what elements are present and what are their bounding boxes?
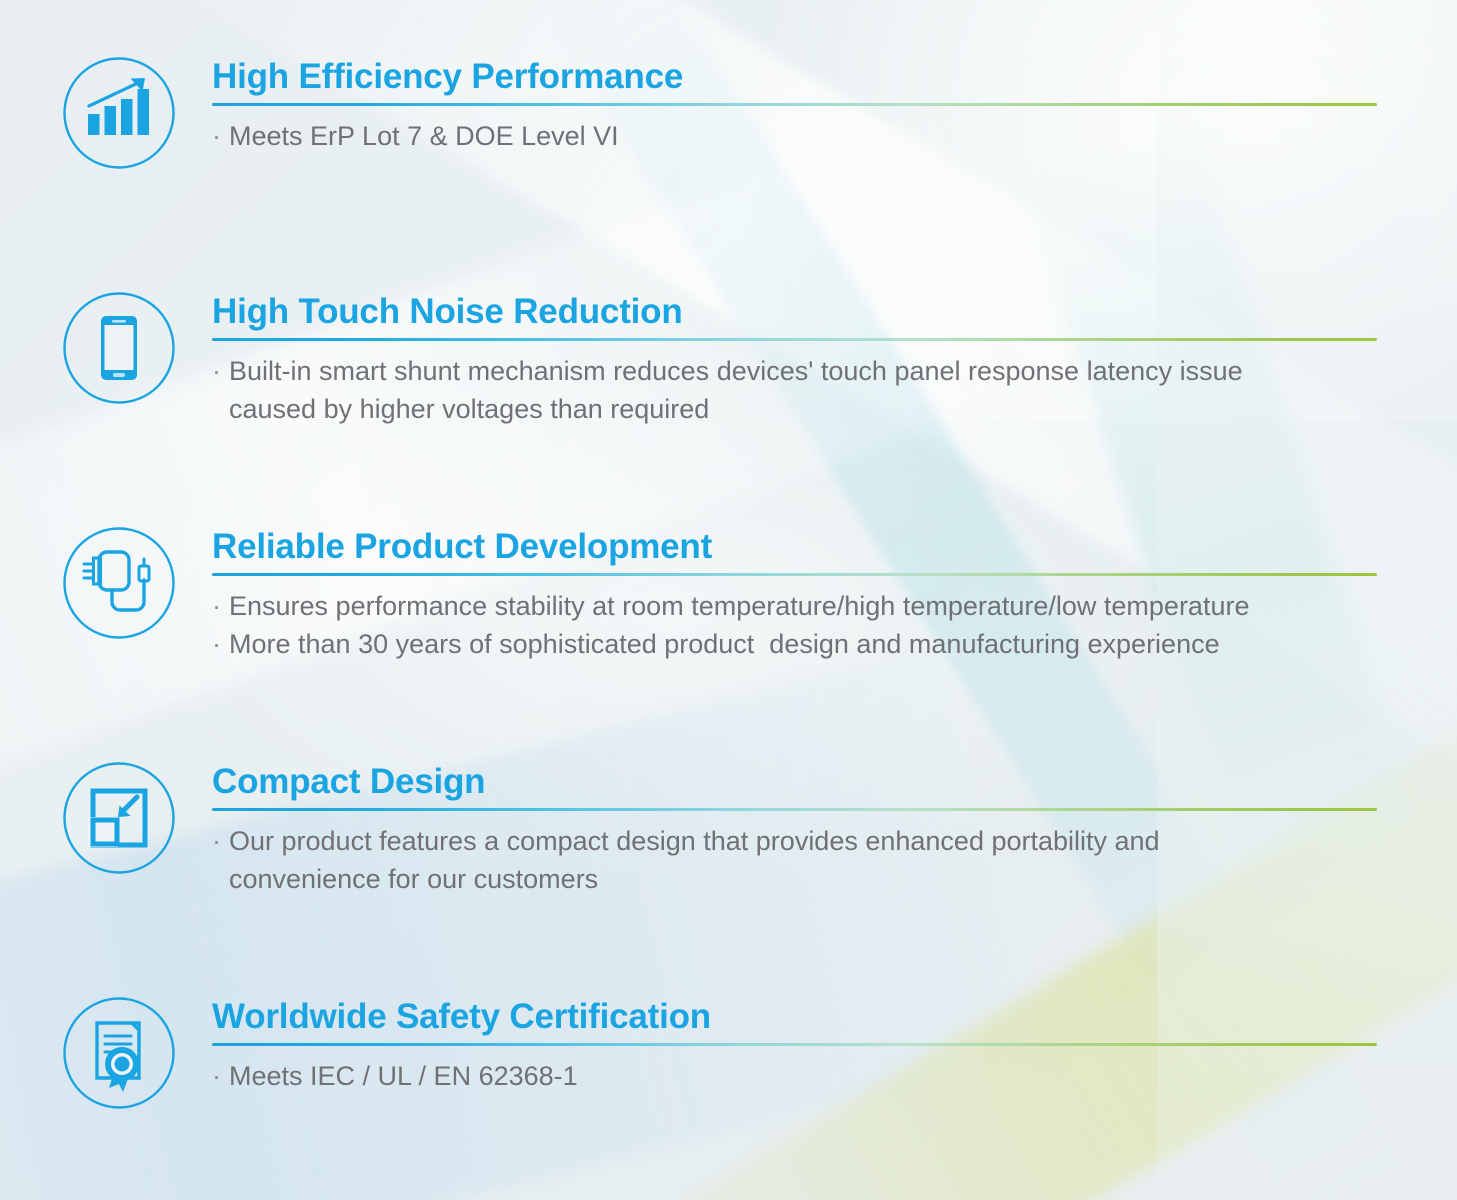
bullet-text: Ensures performance stability at room te… <box>229 587 1377 625</box>
bullet-text: Our product features a compact design th… <box>229 822 1377 860</box>
feature-bullets: · Meets IEC / UL / EN 62368-1 <box>212 1057 1377 1095</box>
bullet-text: convenience for our customers <box>229 860 1377 898</box>
bullet-text: More than 30 years of sophisticated prod… <box>229 625 1377 663</box>
bullet-line: · Our product features a compact design … <box>212 822 1377 860</box>
feature-highlights-page: High Efficiency Performance · Meets ErP … <box>0 0 1457 1200</box>
bullet-line-continuation: convenience for our customers <box>212 860 1377 898</box>
bar-chart-growth-icon <box>62 56 176 170</box>
feature-divider <box>212 338 1377 341</box>
bullet-marker: · <box>212 1057 229 1095</box>
bullet-line: · Built-in smart shunt mechanism reduces… <box>212 352 1377 390</box>
feature-divider <box>212 1043 1377 1046</box>
feature-title: High Efficiency Performance <box>212 56 1377 98</box>
feature-bullets: · Our product features a compact design … <box>212 822 1377 898</box>
bullet-marker: · <box>212 625 229 663</box>
bullet-continuation-marker <box>212 860 229 898</box>
power-adapter-icon <box>62 526 176 640</box>
bullet-text: Meets IEC / UL / EN 62368-1 <box>229 1057 1377 1095</box>
feature-title: High Touch Noise Reduction <box>212 291 1377 333</box>
bullet-marker: · <box>212 352 229 390</box>
compact-resize-icon <box>62 761 176 875</box>
bullet-continuation-marker <box>212 390 229 428</box>
feature-content: Worldwide Safety Certification · Meets I… <box>212 996 1377 1095</box>
bullet-marker: · <box>212 117 229 155</box>
smartphone-icon <box>62 291 176 405</box>
feature-bullets: · Built-in smart shunt mechanism reduces… <box>212 352 1377 428</box>
certificate-award-icon <box>62 996 176 1110</box>
bullet-text: Built-in smart shunt mechanism reduces d… <box>229 352 1377 390</box>
background-band-4 <box>0 647 1037 1200</box>
feature-bullets: · Meets ErP Lot 7 & DOE Level VI <box>212 117 1377 155</box>
bullet-line: · Ensures performance stability at room … <box>212 587 1377 625</box>
feature-content: High Touch Noise Reduction · Built-in sm… <box>212 291 1377 428</box>
feature-content: Reliable Product Development · Ensures p… <box>212 526 1377 663</box>
bullet-line: · Meets IEC / UL / EN 62368-1 <box>212 1057 1377 1095</box>
bullet-text: caused by higher voltages than required <box>229 390 1377 428</box>
bullet-text: Meets ErP Lot 7 & DOE Level VI <box>229 117 1377 155</box>
bullet-line: · More than 30 years of sophisticated pr… <box>212 625 1377 663</box>
feature-bullets: · Ensures performance stability at room … <box>212 587 1377 663</box>
feature-content: High Efficiency Performance · Meets ErP … <box>212 56 1377 155</box>
feature-title: Compact Design <box>212 761 1377 803</box>
background-band-green-2 <box>900 670 1457 1200</box>
feature-title: Reliable Product Development <box>212 526 1377 568</box>
feature-divider <box>212 808 1377 811</box>
feature-content: Compact Design · Our product features a … <box>212 761 1377 898</box>
bullet-line: · Meets ErP Lot 7 & DOE Level VI <box>212 117 1377 155</box>
feature-title: Worldwide Safety Certification <box>212 996 1377 1038</box>
feature-divider <box>212 573 1377 576</box>
bullet-line-continuation: caused by higher voltages than required <box>212 390 1377 428</box>
bullet-marker: · <box>212 822 229 860</box>
feature-divider <box>212 103 1377 106</box>
bullet-marker: · <box>212 587 229 625</box>
